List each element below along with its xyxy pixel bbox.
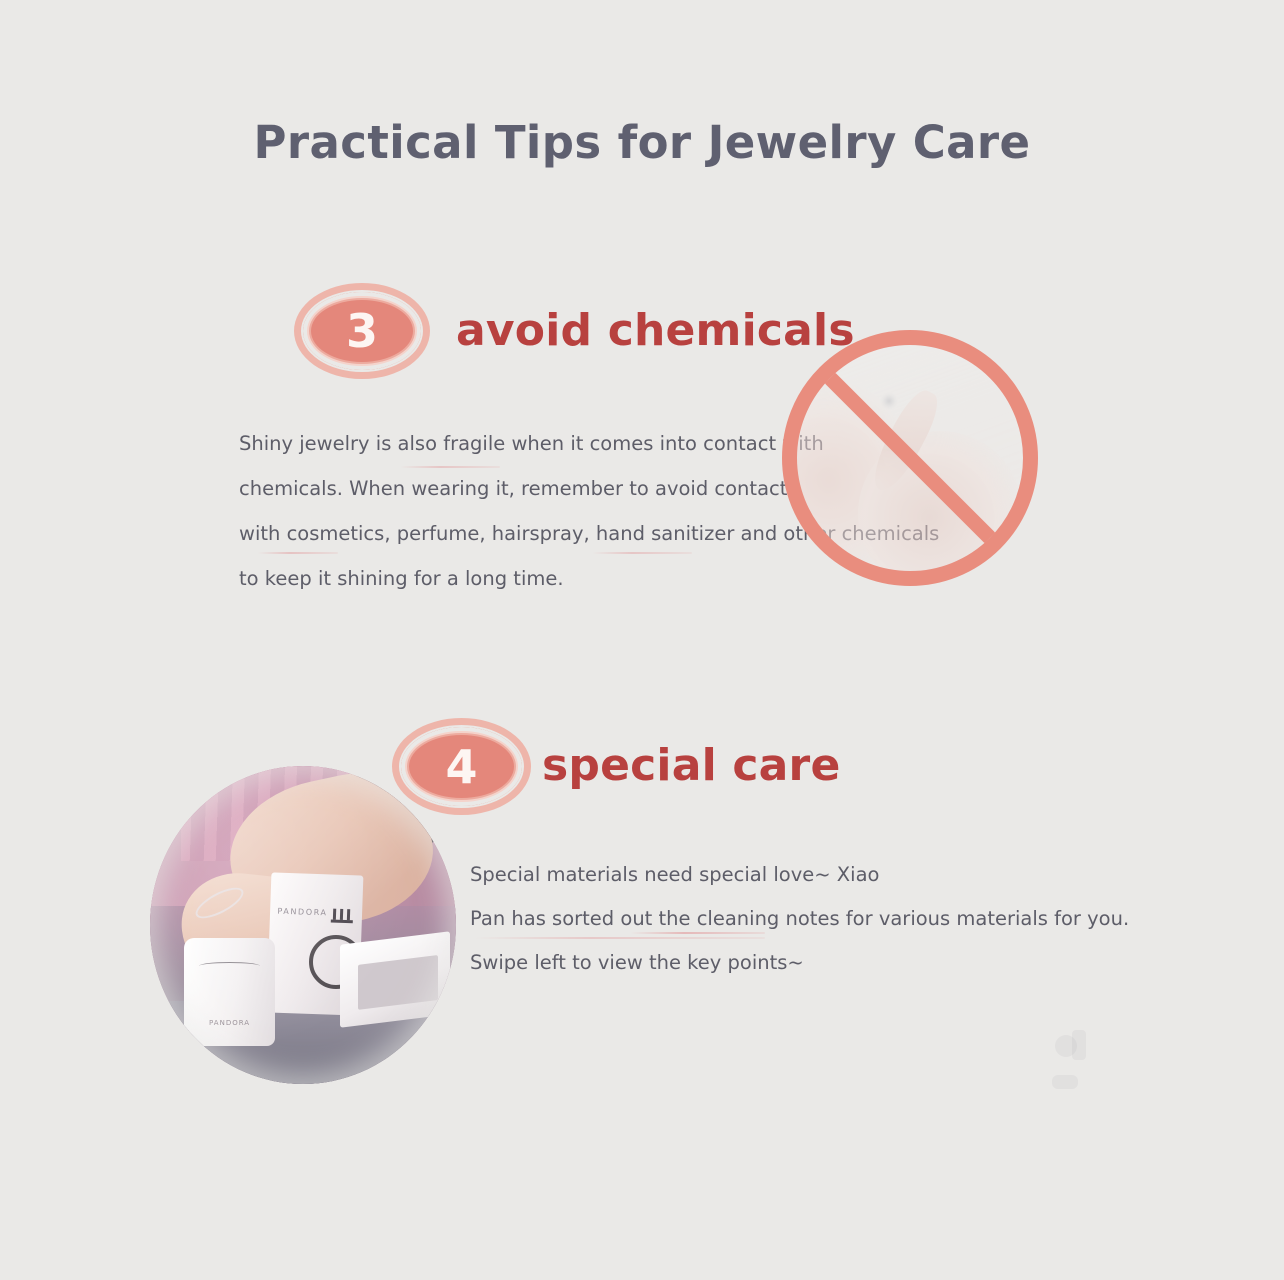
no-chemicals-icon <box>782 330 1038 586</box>
tip-body-4-line-1: Special materials need special love~ Xia… <box>470 853 1129 897</box>
tip-body-4: Special materials need special love~ Xia… <box>470 853 1129 985</box>
background-artifact-1 <box>1055 1035 1077 1057</box>
background-artifact-3 <box>1052 1075 1078 1089</box>
infographic-page: Practical Tips for Jewelry Care 3 avoid … <box>0 0 1284 1280</box>
jewelry-box-photo: PANDORA PANDORA <box>150 766 456 1084</box>
background-artifact-2 <box>1072 1030 1086 1060</box>
tip-body-4-line-2: Pan has sorted out the cleaning notes fo… <box>470 897 1129 941</box>
tip-number-badge-3: 3 <box>303 292 421 370</box>
tip-number-badge-4: 4 <box>401 727 522 806</box>
photo-edge-fade <box>150 766 456 1084</box>
page-title: Practical Tips for Jewelry Care <box>0 116 1284 169</box>
tip-heading-4: special care <box>542 740 841 791</box>
tip-number-3: 3 <box>346 308 378 354</box>
tip-body-4-line-3: Swipe left to view the key points~ <box>470 941 1129 985</box>
tip-number-4: 4 <box>445 744 477 790</box>
